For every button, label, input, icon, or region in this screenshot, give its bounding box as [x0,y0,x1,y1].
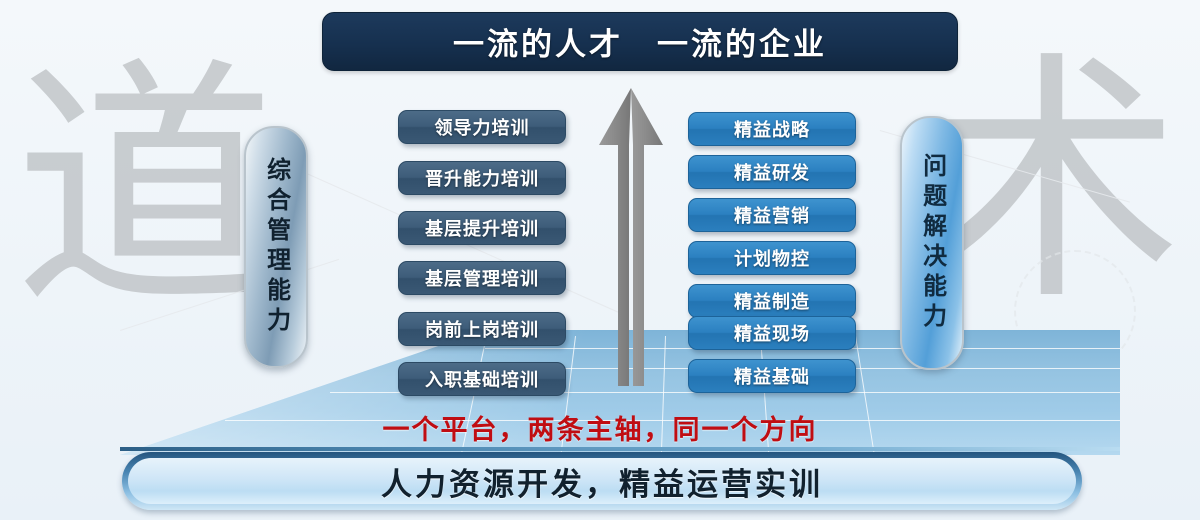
left-track-label-4: 基层管理培训 [425,265,539,291]
page-title: 一流的人才 一流的企业 [453,19,827,64]
platform-front-edge [120,447,1120,451]
right-track-label-3: 精益营销 [734,202,810,228]
right-track-label-7: 精益基础 [734,363,810,389]
left-track-label-3: 基层提升培训 [425,215,539,241]
right-track-label-1: 精益战略 [734,116,810,142]
slogan-text: 一个平台，两条主轴，同一个方向 [0,408,1200,447]
pillar-right-label: 问题解决能力 [919,153,944,333]
left-track-label-6: 入职基础培训 [425,366,539,392]
double-up-arrow-icon [598,88,664,386]
right-track-label-4: 计划物控 [734,245,810,271]
left-track-item-4[interactable]: 基层管理培训 [398,261,566,295]
footer-banner-inner: 人力资源开发，精益运营实训 [128,458,1076,504]
headline-banner: 一流的人才 一流的企业 [322,12,958,71]
left-track-item-2[interactable]: 晋升能力培训 [398,161,566,195]
right-track-item-4[interactable]: 计划物控 [688,241,856,275]
right-track-item-7[interactable]: 精益基础 [688,359,856,393]
footer-banner: 人力资源开发，精益运营实训 [122,452,1082,510]
right-track-label-2: 精益研发 [734,159,810,185]
left-track-item-3[interactable]: 基层提升培训 [398,211,566,245]
left-track-label-1: 领导力培训 [435,114,530,140]
slide-canvas: 道 术 一流的人才 一流的企业 领导力培训 [0,0,1200,520]
right-track-item-3[interactable]: 精益营销 [688,198,856,232]
right-track-label-6: 精益现场 [734,320,810,346]
watermark-character-dao: 道 [14,58,276,320]
pillar-left-label: 综合管理能力 [263,157,288,337]
right-track-item-1[interactable]: 精益战略 [688,112,856,146]
right-track-item-6[interactable]: 精益现场 [688,316,856,350]
right-track-label-5: 精益制造 [734,288,810,314]
pillar-right-problem-solving[interactable]: 问题解决能力 [900,116,964,370]
left-track-item-5[interactable]: 岗前上岗培训 [398,312,566,346]
right-track-item-2[interactable]: 精益研发 [688,155,856,189]
left-track-item-1[interactable]: 领导力培训 [398,110,566,144]
footer-text: 人力资源开发，精益运营实训 [381,459,823,504]
pillar-left-comprehensive-management[interactable]: 综合管理能力 [244,126,308,368]
right-track-item-5[interactable]: 精益制造 [688,284,856,318]
left-track-label-2: 晋升能力培训 [425,165,539,191]
left-track-label-5: 岗前上岗培训 [425,316,539,342]
left-track-item-6[interactable]: 入职基础培训 [398,362,566,396]
